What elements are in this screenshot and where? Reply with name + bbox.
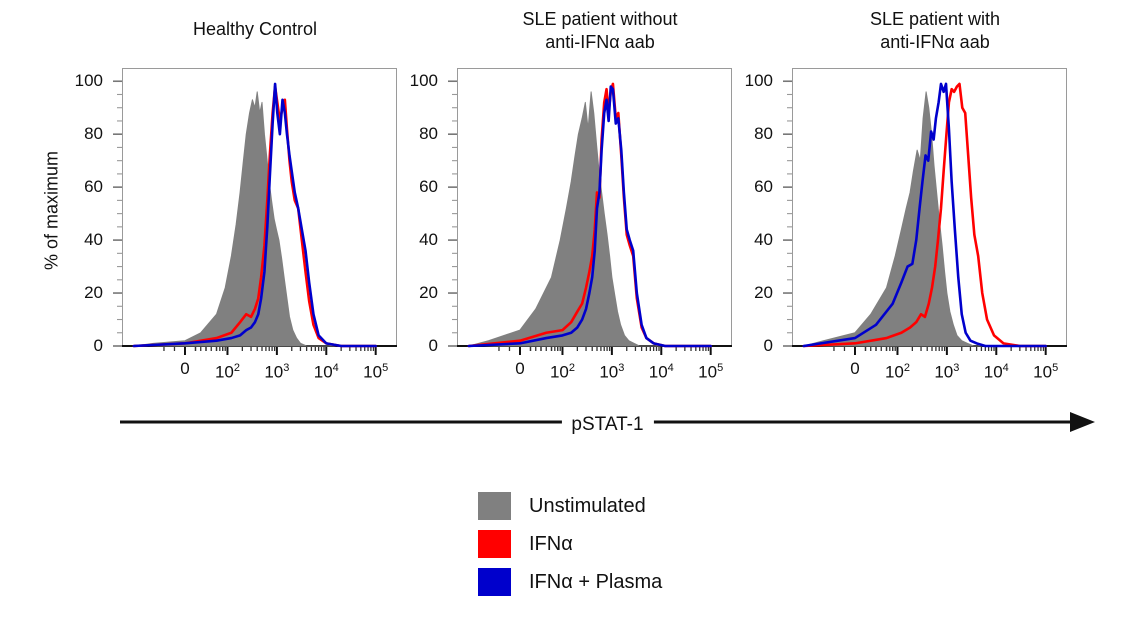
y-tick-label: 80	[733, 125, 773, 142]
y-tick-label: 40	[63, 231, 103, 248]
x-tick-label: 102	[550, 360, 575, 381]
legend-label-unstimulated: Unstimulated	[529, 495, 646, 518]
y-tick-label: 60	[63, 178, 103, 195]
x-tick-label: 105	[698, 360, 723, 381]
legend-swatch-ifna	[478, 530, 511, 558]
histogram-traces	[72, 68, 407, 406]
x-tick-label: 103	[599, 360, 624, 381]
x-axis-arrow: pSTAT-1	[120, 408, 1095, 444]
y-tick-label: 100	[63, 72, 103, 89]
y-tick-label: 80	[398, 125, 438, 142]
panel-title-line2: anti-IFNα aab	[455, 31, 745, 54]
panel-title-healthy-control: Healthy Control	[130, 18, 380, 41]
y-tick-label: 20	[63, 284, 103, 301]
y-tick-label: 40	[398, 231, 438, 248]
y-tick-label: 40	[733, 231, 773, 248]
panel-title-sle-without-aab: SLE patient without anti-IFNα aab	[455, 8, 745, 54]
y-tick-label: 60	[733, 178, 773, 195]
legend-item-unstimulated: Unstimulated	[478, 487, 662, 525]
legend: Unstimulated IFNα IFNα + Plasma	[478, 487, 662, 601]
histogram-panel-sle-with-aab: 0204060801000102103104105	[742, 68, 1077, 406]
legend-label-ifna-plasma: IFNα + Plasma	[529, 571, 662, 594]
histogram-traces	[407, 68, 742, 406]
y-axis-title: % of maximum	[42, 81, 63, 341]
panel-title-line1: SLE patient with	[790, 8, 1080, 31]
x-tick-label: 0	[850, 360, 859, 377]
x-tick-label: 104	[314, 360, 339, 381]
histogram-traces	[742, 68, 1077, 406]
trace-unstimulated	[469, 92, 711, 346]
y-tick-label: 0	[63, 337, 103, 354]
y-tick-label: 0	[733, 337, 773, 354]
y-tick-label: 60	[398, 178, 438, 195]
legend-swatch-unstimulated	[478, 492, 511, 520]
panel-title-line2: anti-IFNα aab	[790, 31, 1080, 54]
y-tick-label: 80	[63, 125, 103, 142]
x-tick-label: 103	[934, 360, 959, 381]
figure-root: % of maximum Healthy Control SLE patient…	[0, 0, 1123, 631]
x-tick-label: 104	[984, 360, 1009, 381]
legend-swatch-ifna-plasma	[478, 568, 511, 596]
x-tick-label: 102	[215, 360, 240, 381]
y-tick-label: 100	[398, 72, 438, 89]
y-tick-label: 0	[398, 337, 438, 354]
x-tick-label: 0	[515, 360, 524, 377]
y-tick-label: 100	[733, 72, 773, 89]
panel-title-line1: SLE patient without	[455, 8, 745, 31]
legend-label-ifna: IFNα	[529, 533, 573, 556]
panel-title-sle-with-aab: SLE patient with anti-IFNα aab	[790, 8, 1080, 54]
legend-item-ifna: IFNα	[478, 525, 662, 563]
legend-item-ifna-plasma: IFNα + Plasma	[478, 563, 662, 601]
trace-unstimulated	[804, 92, 1046, 346]
histogram-panel-healthy-control: 0204060801000102103104105	[72, 68, 407, 406]
x-tick-label: 105	[1033, 360, 1058, 381]
histogram-panel-sle-without-aab: 0204060801000102103104105	[407, 68, 742, 406]
y-tick-label: 20	[733, 284, 773, 301]
x-tick-label: 102	[885, 360, 910, 381]
panel-title-line1: Healthy Control	[130, 18, 380, 41]
x-tick-label: 103	[264, 360, 289, 381]
x-tick-label: 0	[180, 360, 189, 377]
x-tick-label: 105	[363, 360, 388, 381]
x-axis-title: pSTAT-1	[561, 414, 653, 436]
x-tick-label: 104	[649, 360, 674, 381]
y-tick-label: 20	[398, 284, 438, 301]
